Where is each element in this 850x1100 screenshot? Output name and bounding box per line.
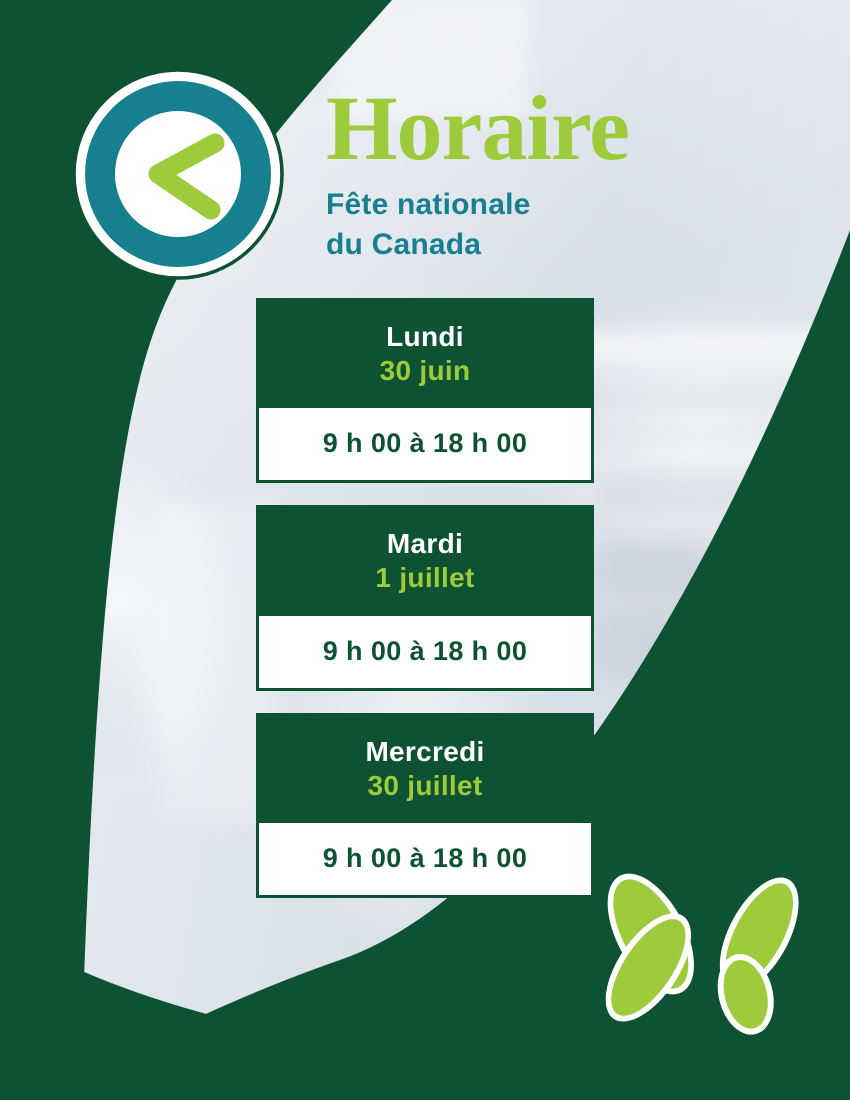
schedule-card-body: 9 h 00 à 18 h 00 — [256, 823, 594, 898]
schedule-card-header: Mercredi 30 juillet — [256, 713, 594, 823]
schedule-date: 30 juillet — [266, 769, 584, 803]
schedule-date: 1 juillet — [266, 561, 584, 595]
schedule-poster: Horaire Fête nationale du Canada Lundi 3… — [0, 0, 850, 1100]
schedule-hours: 9 h 00 à 18 h 00 — [267, 843, 583, 874]
schedule-card-header: Mardi 1 juillet — [256, 505, 594, 615]
schedule-card: Mercredi 30 juillet 9 h 00 à 18 h 00 — [256, 713, 594, 898]
schedule-card: Mardi 1 juillet 9 h 00 à 18 h 00 — [256, 505, 594, 690]
page-title: Horaire — [326, 86, 746, 171]
schedule-day: Lundi — [266, 320, 584, 354]
schedule-card-body: 9 h 00 à 18 h 00 — [256, 616, 594, 691]
schedule-list: Lundi 30 juin 9 h 00 à 18 h 00 Mardi 1 j… — [256, 298, 594, 920]
schedule-hours: 9 h 00 à 18 h 00 — [267, 428, 583, 459]
clock-icon — [72, 68, 284, 280]
schedule-card-header: Lundi 30 juin — [256, 298, 594, 408]
page-subtitle-line1: Fête nationale — [326, 185, 746, 226]
schedule-date: 30 juin — [266, 354, 584, 388]
schedule-hours: 9 h 00 à 18 h 00 — [267, 636, 583, 667]
schedule-card: Lundi 30 juin 9 h 00 à 18 h 00 — [256, 298, 594, 483]
page-subtitle: Fête nationale du Canada — [326, 185, 746, 267]
schedule-day: Mercredi — [266, 735, 584, 769]
page-subtitle-line2: du Canada — [326, 225, 746, 266]
title-block: Horaire Fête nationale du Canada — [326, 86, 746, 266]
schedule-card-body: 9 h 00 à 18 h 00 — [256, 408, 594, 483]
schedule-day: Mardi — [266, 527, 584, 561]
